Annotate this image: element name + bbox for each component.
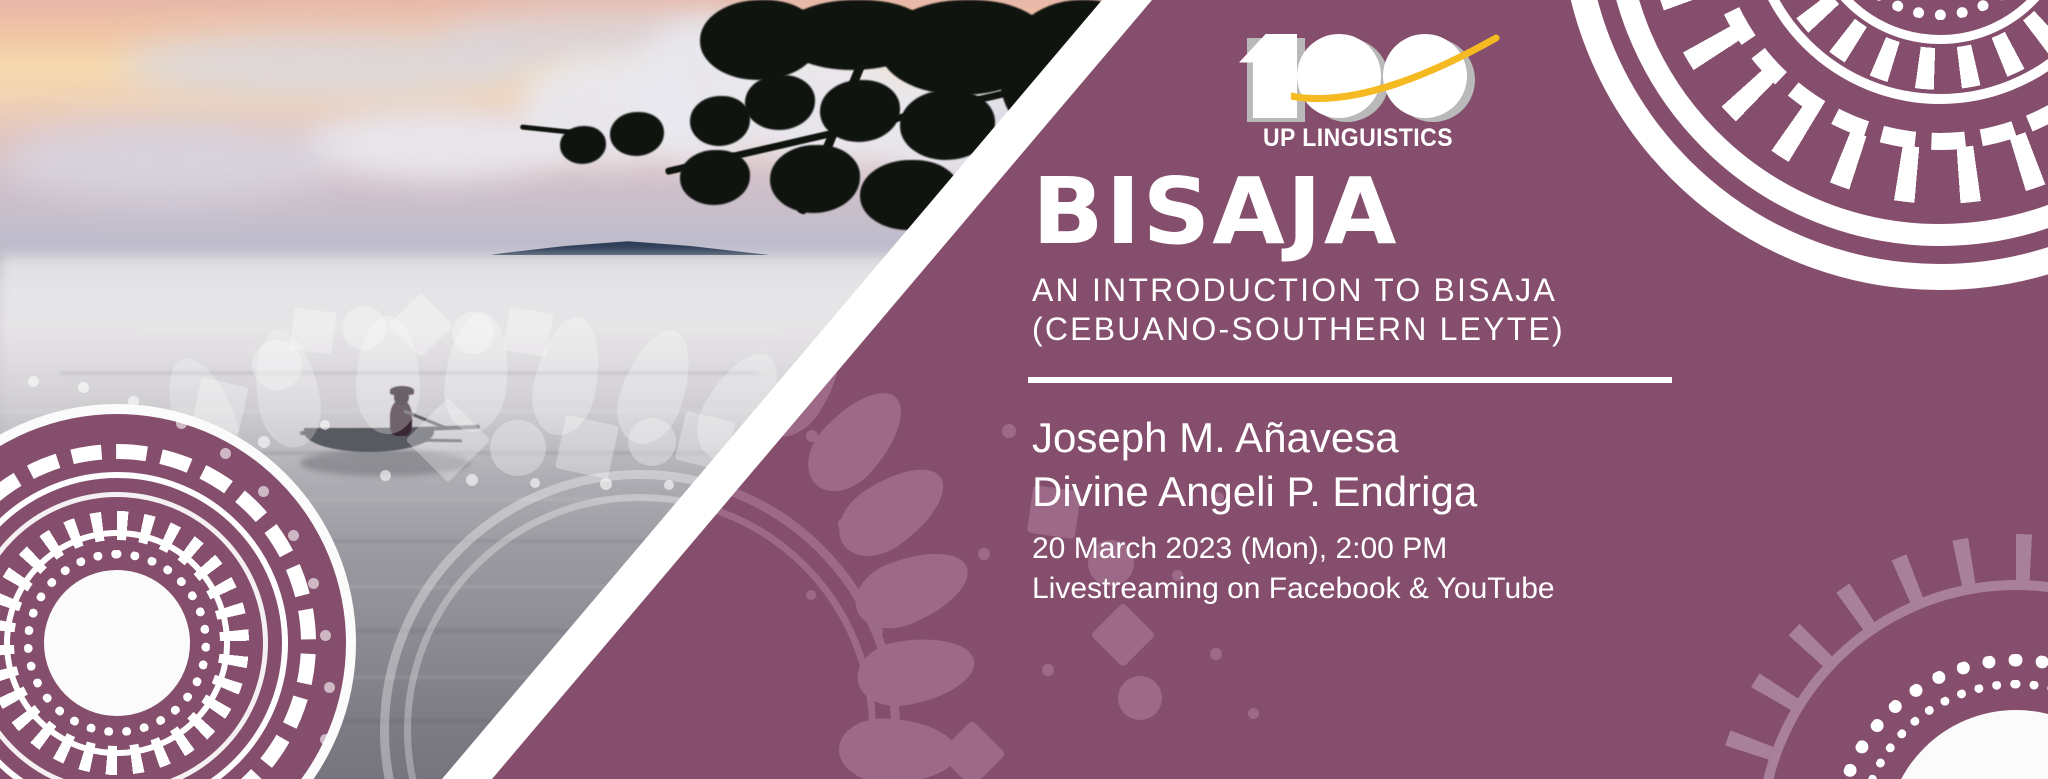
centennial-100-mark bbox=[1233, 30, 1483, 122]
subtitle-line-1: AN INTRODUCTION TO BISAJA bbox=[1032, 271, 1688, 310]
cloud bbox=[300, 110, 580, 180]
logo-wordmark: UP LINGUISTICS bbox=[1229, 124, 1487, 153]
decor-diamond bbox=[938, 720, 1006, 779]
speaker-name: Joseph M. Añavesa bbox=[1032, 411, 1688, 465]
event-datetime: 20 March 2023 (Mon), 2:00 PM bbox=[1032, 529, 1688, 569]
speaker-list: Joseph M. Añavesa Divine Angeli P. Endri… bbox=[1028, 411, 1688, 519]
event-broadcast: Livestreaming on Facebook & YouTube bbox=[1032, 569, 1688, 609]
cloud bbox=[0, 120, 340, 200]
up-linguistics-logo: UP LINGUISTICS bbox=[1218, 0, 1498, 140]
page-title: BISAJA bbox=[1028, 168, 1701, 255]
logo-swoosh-icon bbox=[1291, 30, 1501, 122]
subtitle-line-2: (CEBUANO-SOUTHERN LEYTE) bbox=[1032, 310, 1688, 349]
event-details: 20 March 2023 (Mon), 2:00 PM Livestreami… bbox=[1028, 529, 1688, 609]
divider-rule bbox=[1028, 377, 1672, 383]
decor-circle bbox=[490, 420, 546, 476]
content-column: UP LINGUISTICS BISAJA AN INTRODUCTION TO… bbox=[1028, 0, 1688, 779]
speaker-name: Divine Angeli P. Endriga bbox=[1032, 465, 1688, 519]
subtitle: AN INTRODUCTION TO BISAJA (CEBUANO-SOUTH… bbox=[1028, 271, 1688, 349]
event-banner: UP LINGUISTICS BISAJA AN INTRODUCTION TO… bbox=[0, 0, 2048, 779]
